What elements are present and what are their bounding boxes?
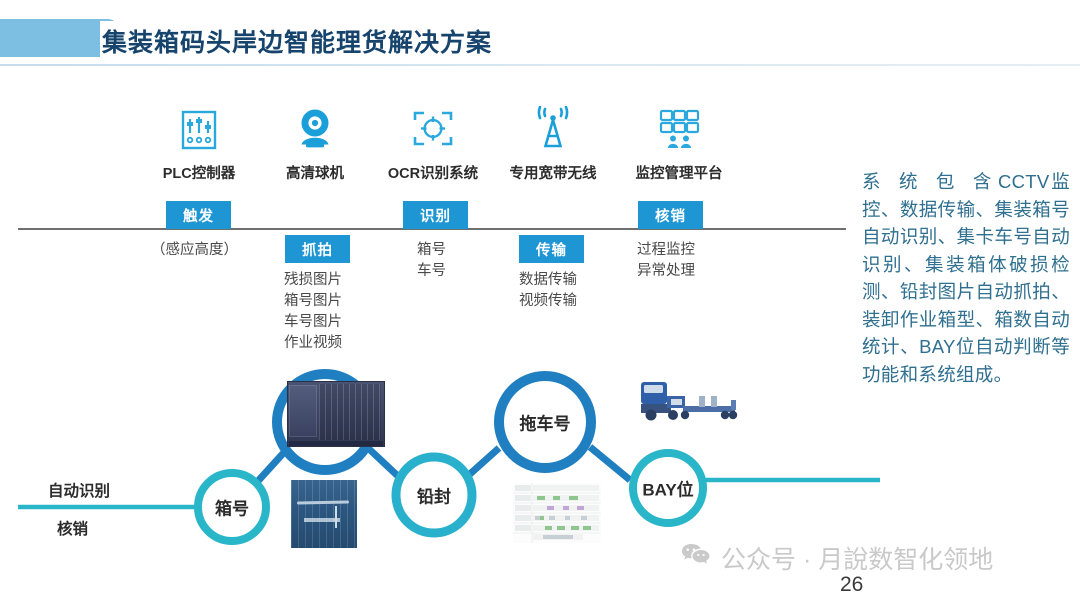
- system-summary-panel: 系 统 包 含CCTV监控、数据传输、集装箱号自动识别、集卡车号自动识别、集装箱…: [862, 168, 1070, 388]
- system-summary-lead: 系 统 包 含: [862, 171, 998, 192]
- flow-left-label-below: 核销: [57, 517, 88, 539]
- detail-recognize-list: 箱号 车号: [417, 240, 446, 282]
- flow-connector-2: [368, 448, 400, 478]
- badge-capture: 抓拍: [285, 235, 350, 263]
- header-divider: [0, 64, 1080, 66]
- device-column-platform: 监控管理平台: [604, 106, 754, 183]
- detail-trigger-note: （感应高度）: [151, 240, 238, 261]
- photo-bay-table-image: [513, 483, 601, 543]
- system-summary-body: CCTV监控、数据传输、集装箱号自动识别、集卡车号自动识别、集装箱体破损检测、铅…: [862, 171, 1070, 385]
- badge-trigger: 触发: [166, 201, 231, 229]
- flow-connector-4: [590, 447, 630, 480]
- photo-container-image: [287, 381, 385, 447]
- flow-node-label-3: 铅封: [417, 483, 451, 508]
- detail-transmit-list: 数据传输 视频传输: [519, 270, 577, 312]
- page-title: 集装箱码头岸边智能理货解决方案: [100, 21, 500, 61]
- detail-verify-list: 过程监控 异常处理: [637, 240, 695, 282]
- process-flow-diagram: [0, 350, 880, 560]
- device-label-platform: 监控管理平台: [604, 162, 754, 183]
- badge-verify: 核销: [638, 201, 703, 229]
- flow-node-label-1: 箱号: [215, 495, 249, 520]
- detail-capture-list: 残损图片 箱号图片 车号图片 作业视频: [284, 270, 342, 354]
- video-wall-icon: [604, 106, 754, 152]
- badge-transmit: 传输: [519, 235, 584, 263]
- watermark: 公众号 · 月說数智化领地: [681, 540, 993, 576]
- photo-seal-image: [291, 480, 357, 548]
- page-number: 26: [840, 573, 863, 597]
- wechat-icon: [681, 542, 711, 574]
- badge-recognize: 识别: [403, 201, 468, 229]
- flow-node-label-5: BAY位: [642, 476, 693, 501]
- flow-node-label-4: 拖车号: [520, 410, 571, 435]
- watermark-text: 公众号 · 月說数智化领地: [721, 540, 993, 576]
- photo-truck-image: [637, 374, 741, 430]
- flow-left-label-above: 自动识别: [48, 479, 110, 501]
